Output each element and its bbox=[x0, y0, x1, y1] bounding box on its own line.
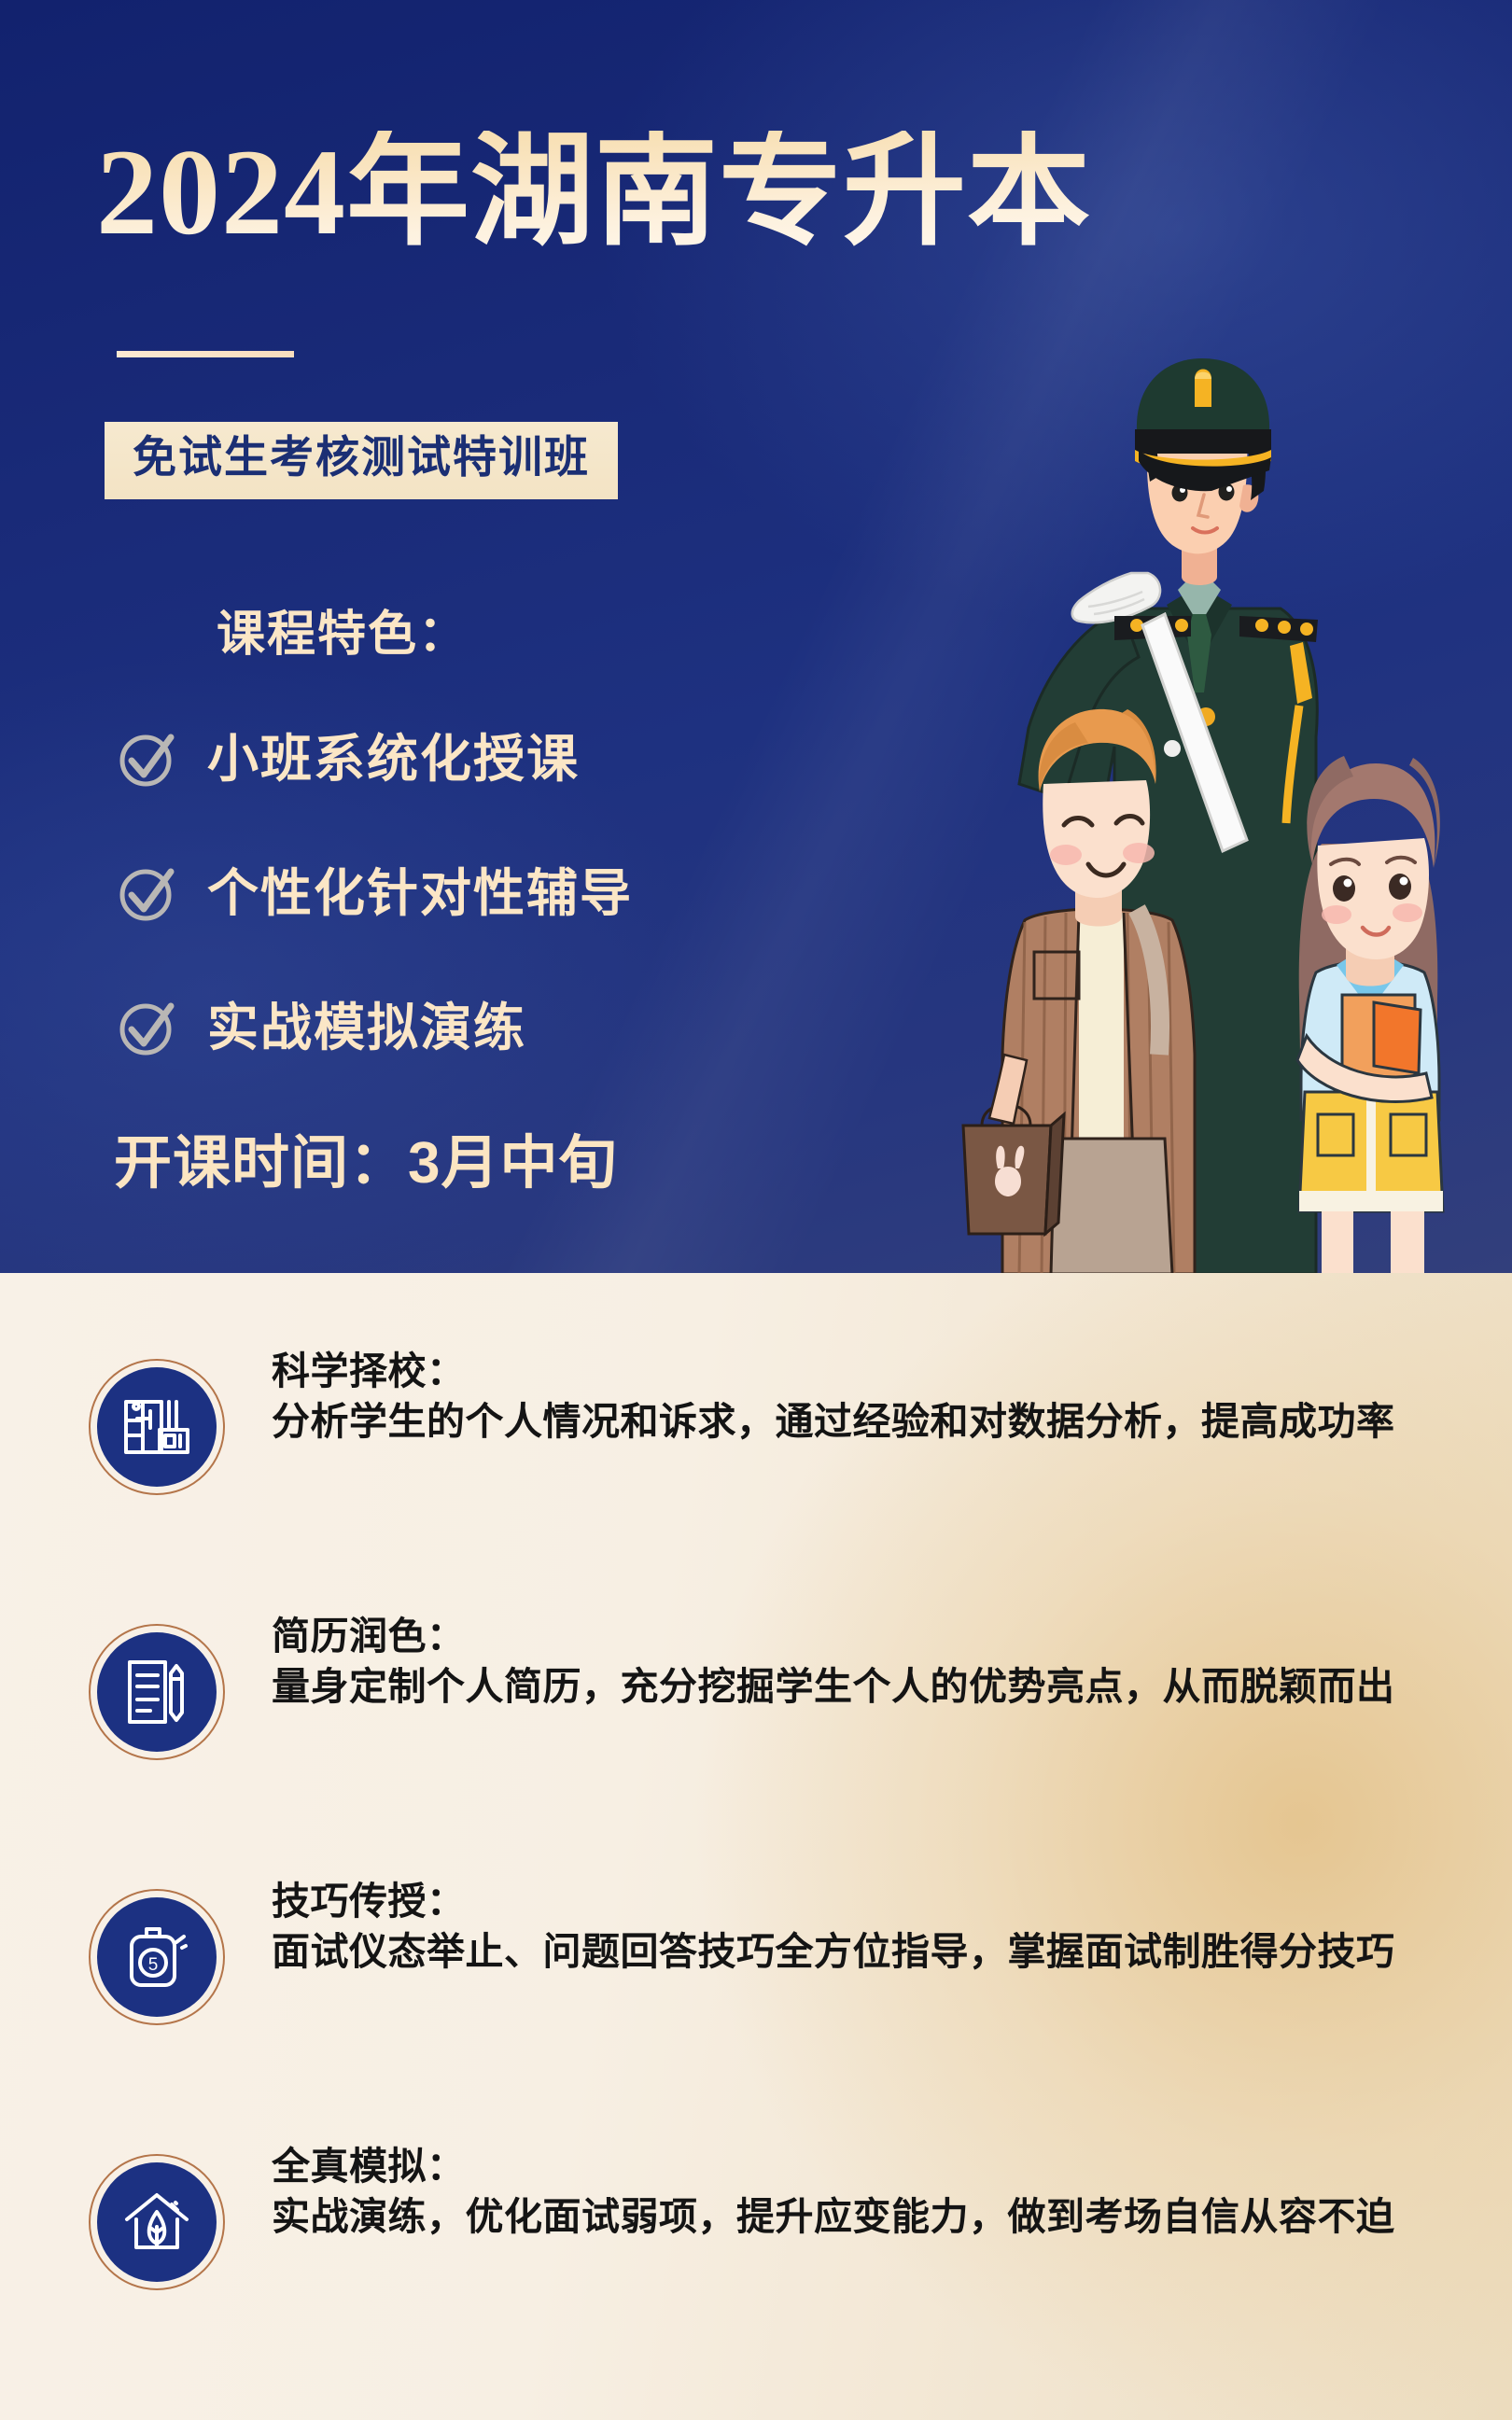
feature-list: 小班系统化授课 个性化针对性辅导 实战模拟演 bbox=[117, 723, 633, 1126]
service-title: 技巧传授： bbox=[272, 1876, 1395, 1926]
service-item-3: 5 技巧传授： 面试仪态举止、问题回答技巧全方位指导，掌握面试制胜得分技巧 bbox=[0, 1876, 1512, 2025]
services-section: 科学择校： 分析学生的个人情况和诉求，通过经验和对数据分析，提高成功率 bbox=[0, 1273, 1512, 2420]
poster-root: 2024年湖南专升本 免试生考核测试特训班 课程特色： 小班系统化授课 bbox=[0, 0, 1512, 2420]
service-description: 量身定制个人简历，充分挖掘学生个人的优势亮点，从而脱颖而出 bbox=[272, 1661, 1395, 1712]
service-badge bbox=[89, 1359, 225, 1495]
features-heading: 课程特色： bbox=[217, 611, 469, 660]
feature-item-label: 实战模拟演练 bbox=[207, 1002, 526, 1054]
service-title: 简历润色： bbox=[272, 1611, 1395, 1661]
service-item-2: 简历润色： 量身定制个人简历，充分挖掘学生个人的优势亮点，从而脱颖而出 bbox=[0, 1611, 1512, 1760]
hero-section: 2024年湖南专升本 免试生考核测试特训班 课程特色： 小班系统化授课 bbox=[0, 0, 1512, 1273]
service-description: 实战演练，优化面试弱项，提升应变能力，做到考场自信从容不迫 bbox=[272, 2191, 1395, 2242]
subtitle-badge-label: 免试生考核测试特训班 bbox=[133, 434, 590, 483]
service-title: 全真模拟： bbox=[272, 2141, 1395, 2191]
service-item-1: 科学择校： 分析学生的个人情况和诉求，通过经验和对数据分析，提高成功率 bbox=[0, 1346, 1512, 1495]
feature-item-2: 个性化针对性辅导 bbox=[117, 858, 633, 929]
service-title: 科学择校： bbox=[272, 1346, 1395, 1396]
check-circle-icon bbox=[117, 730, 175, 788]
feature-item-label: 个性化针对性辅导 bbox=[207, 868, 633, 919]
check-circle-icon bbox=[117, 864, 175, 922]
feature-item-1: 小班系统化授课 bbox=[117, 723, 633, 794]
feature-item-3: 实战模拟演练 bbox=[117, 992, 633, 1063]
service-text: 科学择校： 分析学生的个人情况和诉求，通过经验和对数据分析，提高成功率 bbox=[272, 1346, 1395, 1495]
service-badge bbox=[89, 1624, 225, 1760]
service-description: 面试仪态举止、问题回答技巧全方位指导，掌握面试制胜得分技巧 bbox=[272, 1926, 1395, 1977]
service-text: 简历润色： 量身定制个人简历，充分挖掘学生个人的优势亮点，从而脱颖而出 bbox=[272, 1611, 1395, 1760]
title-divider bbox=[117, 351, 294, 357]
feature-item-label: 小班系统化授课 bbox=[207, 734, 580, 785]
service-description: 分析学生的个人情况和诉求，通过经验和对数据分析，提高成功率 bbox=[272, 1396, 1395, 1447]
start-time-label: 开课时间：3月中旬 bbox=[114, 1135, 617, 1193]
house-leaf-icon bbox=[97, 2162, 217, 2282]
document-pencil-icon bbox=[97, 1632, 217, 1752]
service-badge bbox=[89, 2154, 225, 2290]
saluting-officer-with-two-students-illustration bbox=[915, 345, 1493, 1273]
svg-text:5: 5 bbox=[148, 1955, 159, 1975]
service-badge: 5 bbox=[89, 1889, 225, 2025]
check-circle-icon bbox=[117, 999, 175, 1056]
service-text: 全真模拟： 实战演练，优化面试弱项，提升应变能力，做到考场自信从容不迫 bbox=[272, 2141, 1395, 2290]
subtitle-badge: 免试生考核测试特训班 bbox=[105, 422, 618, 499]
service-item-4: 全真模拟： 实战演练，优化面试弱项，提升应变能力，做到考场自信从容不迫 bbox=[0, 2141, 1512, 2290]
stopwatch-timer-icon: 5 bbox=[97, 1897, 217, 2017]
page-title: 2024年湖南专升本 bbox=[96, 131, 1091, 254]
school-building-icon bbox=[97, 1367, 217, 1487]
service-text: 技巧传授： 面试仪态举止、问题回答技巧全方位指导，掌握面试制胜得分技巧 bbox=[272, 1876, 1395, 2025]
